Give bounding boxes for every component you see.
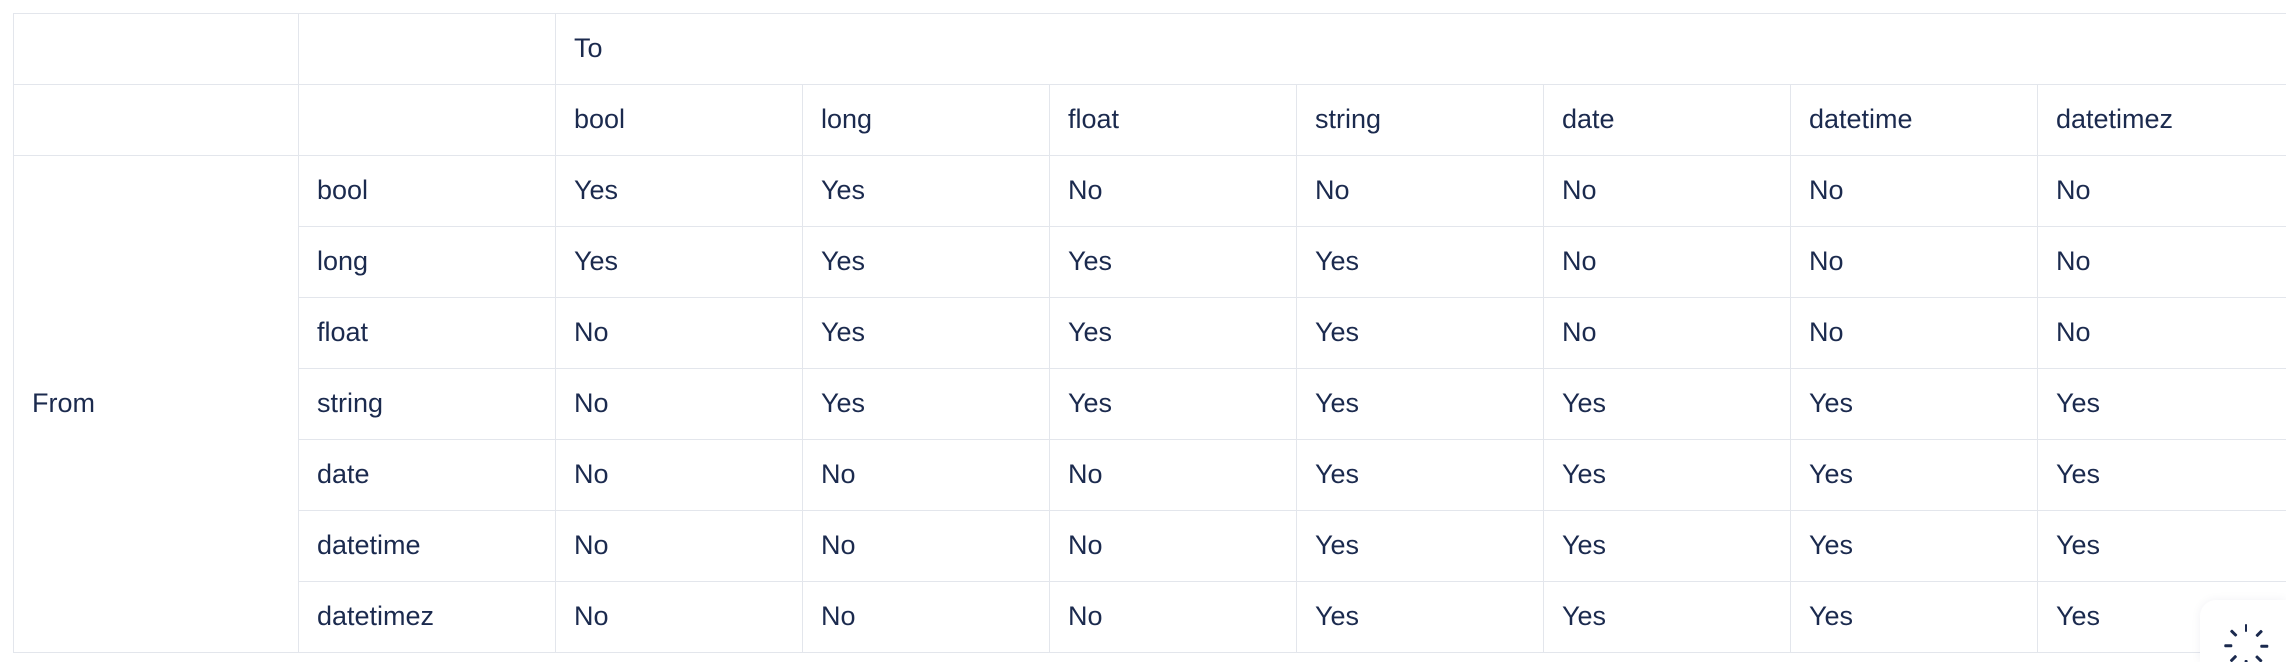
cell-bool-datetime: No <box>1791 156 2038 227</box>
column-header-date: date <box>1544 85 1791 156</box>
cell-datetime-datetime: Yes <box>1791 511 2038 582</box>
type-conversion-matrix-table: To bool long float string date datetime … <box>13 13 2286 653</box>
loading-widget[interactable] <box>2200 600 2286 662</box>
table-row: string No Yes Yes Yes Yes Yes Yes <box>14 369 2286 440</box>
cell-date-datetimez: Yes <box>2038 440 2286 511</box>
to-axis-label: To <box>556 14 2286 85</box>
column-header-string: string <box>1297 85 1544 156</box>
row-header-datetimez: datetimez <box>299 582 556 653</box>
cell-string-long: Yes <box>803 369 1050 440</box>
cell-bool-bool: Yes <box>556 156 803 227</box>
cell-string-datetime: Yes <box>1791 369 2038 440</box>
cell-float-bool: No <box>556 298 803 369</box>
cell-string-bool: No <box>556 369 803 440</box>
cell-date-float: No <box>1050 440 1297 511</box>
page-root: To bool long float string date datetime … <box>0 0 2286 662</box>
cell-bool-float: No <box>1050 156 1297 227</box>
cell-long-datetime: No <box>1791 227 2038 298</box>
cell-float-string: Yes <box>1297 298 1544 369</box>
cell-float-long: Yes <box>803 298 1050 369</box>
cell-long-string: Yes <box>1297 227 1544 298</box>
cell-long-datetimez: No <box>2038 227 2286 298</box>
loading-spinner-icon <box>2231 621 2261 651</box>
cell-float-date: No <box>1544 298 1791 369</box>
cell-date-date: Yes <box>1544 440 1791 511</box>
cell-string-float: Yes <box>1050 369 1297 440</box>
cell-float-datetime: No <box>1791 298 2038 369</box>
cell-date-datetime: Yes <box>1791 440 2038 511</box>
cell-float-datetimez: No <box>2038 298 2286 369</box>
column-header-datetime: datetime <box>1791 85 2038 156</box>
cell-datetime-float: No <box>1050 511 1297 582</box>
table-row: float No Yes Yes Yes No No No <box>14 298 2286 369</box>
cell-bool-datetimez: No <box>2038 156 2286 227</box>
cell-datetime-bool: No <box>556 511 803 582</box>
cell-long-bool: Yes <box>556 227 803 298</box>
column-header-spacer-2 <box>299 85 556 156</box>
cell-datetime-long: No <box>803 511 1050 582</box>
cell-datetime-datetimez: Yes <box>2038 511 2286 582</box>
cell-datetimez-date: Yes <box>1544 582 1791 653</box>
cell-date-bool: No <box>556 440 803 511</box>
cell-float-float: Yes <box>1050 298 1297 369</box>
cell-date-string: Yes <box>1297 440 1544 511</box>
table-row: From bool Yes Yes No No No No No <box>14 156 2286 227</box>
table-row: datetime No No No Yes Yes Yes Yes <box>14 511 2286 582</box>
conversion-matrix-container: To bool long float string date datetime … <box>13 13 2286 662</box>
cell-bool-string: No <box>1297 156 1544 227</box>
cell-long-float: Yes <box>1050 227 1297 298</box>
row-header-datetime: datetime <box>299 511 556 582</box>
row-header-long: long <box>299 227 556 298</box>
cell-datetime-date: Yes <box>1544 511 1791 582</box>
corner-blank-right <box>299 14 556 85</box>
cell-long-date: No <box>1544 227 1791 298</box>
column-header-bool: bool <box>556 85 803 156</box>
row-header-float: float <box>299 298 556 369</box>
table-body: From bool Yes Yes No No No No No long Ye… <box>14 156 2286 653</box>
column-header-datetimez: datetimez <box>2038 85 2286 156</box>
cell-bool-long: Yes <box>803 156 1050 227</box>
row-header-string: string <box>299 369 556 440</box>
cell-datetimez-long: No <box>803 582 1050 653</box>
cell-long-long: Yes <box>803 227 1050 298</box>
table-row: date No No No Yes Yes Yes Yes <box>14 440 2286 511</box>
column-header-row: bool long float string date datetime dat… <box>14 85 2286 156</box>
corner-blank-left <box>14 14 299 85</box>
column-header-spacer-1 <box>14 85 299 156</box>
column-header-long: long <box>803 85 1050 156</box>
cell-bool-date: No <box>1544 156 1791 227</box>
table-row: datetimez No No No Yes Yes Yes Yes <box>14 582 2286 653</box>
cell-datetimez-string: Yes <box>1297 582 1544 653</box>
cell-datetimez-bool: No <box>556 582 803 653</box>
cell-string-datetimez: Yes <box>2038 369 2286 440</box>
row-header-date: date <box>299 440 556 511</box>
cell-date-long: No <box>803 440 1050 511</box>
cell-datetimez-float: No <box>1050 582 1297 653</box>
cell-string-string: Yes <box>1297 369 1544 440</box>
table-header: To bool long float string date datetime … <box>14 14 2286 156</box>
cell-string-date: Yes <box>1544 369 1791 440</box>
column-header-float: float <box>1050 85 1297 156</box>
table-row: long Yes Yes Yes Yes No No No <box>14 227 2286 298</box>
cell-datetimez-datetime: Yes <box>1791 582 2038 653</box>
from-axis-label: From <box>14 156 299 653</box>
row-header-bool: bool <box>299 156 556 227</box>
to-axis-row: To <box>14 14 2286 85</box>
cell-datetime-string: Yes <box>1297 511 1544 582</box>
